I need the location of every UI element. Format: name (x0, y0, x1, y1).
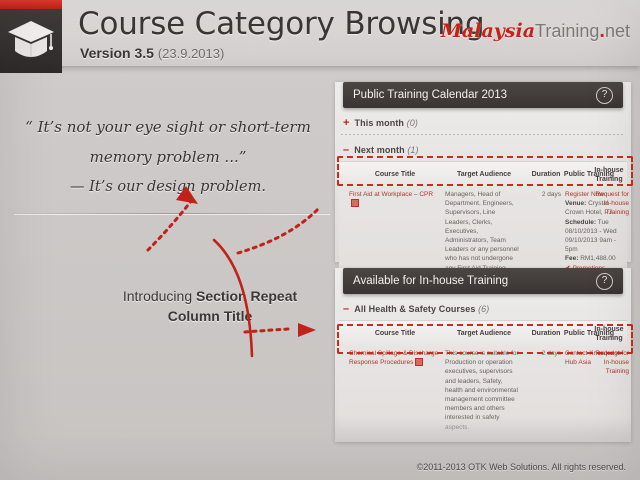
brand-malaysia: Malaysia (441, 20, 535, 42)
slide-header: Course Category Browsing Version 3.5 (23… (0, 0, 640, 66)
graduation-cap-icon (6, 18, 56, 60)
column-header-course-title[interactable]: Course Title (351, 162, 439, 179)
quote-line-2: memory problem ...” (8, 142, 328, 172)
cell-inhouse-request-link[interactable]: Request for In-house Training (595, 349, 629, 377)
footer-copyright: ©2011-2013 OTK Web Solutions. All rights… (417, 462, 626, 472)
annotation-text: Introducing Section Repeat Column Title (110, 286, 310, 326)
expand-plus-icon[interactable]: + (343, 117, 350, 129)
question-mark-icon[interactable]: ? (596, 87, 613, 104)
column-header-inhouse-training[interactable]: In-house Training (591, 321, 627, 343)
panel-bottom-fade (335, 416, 631, 442)
fee-label: Fee: (565, 255, 578, 262)
section-next-month[interactable]: –Next month (1) (343, 144, 631, 156)
version-date: (23.9.2013) (158, 46, 225, 61)
external-link-icon[interactable] (415, 358, 423, 366)
public-training-calendar-panel: Public Training Calendar 2013 ? +This mo… (335, 82, 631, 262)
schedule-label: Schedule: (565, 219, 596, 226)
page-title: Course Category Browsing (78, 6, 484, 42)
column-header-duration[interactable]: Duration (527, 162, 565, 179)
course-title-link[interactable]: Chemical Spillage & Discharge Response P… (349, 350, 438, 366)
brand-training: Training (535, 21, 599, 41)
panel-title-bar: Public Training Calendar 2013 ? (343, 82, 623, 108)
fee-value: RM1,488.00 (580, 255, 615, 262)
brand-logo: MalaysiaTraining.net (441, 20, 630, 43)
table-header-row: Course Title Target Audience Duration Pu… (339, 161, 627, 188)
quote-line-3: — It’s our design problem. (8, 172, 328, 202)
table-row: First Aid at Workplace – CPR Managers, H… (339, 188, 627, 280)
section-count: (0) (407, 118, 418, 128)
cell-inhouse-request-link[interactable]: Request for In-house Training (595, 190, 629, 218)
cell-course-title[interactable]: Chemical Spillage & Discharge Response P… (349, 349, 441, 367)
section-label: All Health & Safety Courses (354, 304, 475, 314)
quote-block: “ It’s not your eye sight or short-term … (8, 112, 328, 202)
section-label: This month (355, 118, 405, 128)
collapse-minus-icon[interactable]: – (343, 303, 349, 315)
brand-net: net (605, 21, 630, 41)
course-title-link[interactable]: First Aid at Workplace – CPR (349, 191, 433, 198)
slide-canvas: Course Category Browsing Version 3.5 (23… (0, 0, 640, 480)
cell-target-audience: Managers, Head of Department, Engineers,… (445, 190, 521, 273)
inhouse-training-panel: Available for In-house Training ? –All H… (335, 268, 631, 442)
quote-divider (14, 213, 330, 214)
section-rule (341, 134, 625, 135)
external-link-icon[interactable] (351, 199, 359, 207)
version-label: Version 3.5 (23.9.2013) (80, 45, 224, 61)
section-all-health-safety[interactable]: –All Health & Safety Courses (6) (343, 303, 631, 315)
panel-title-bar: Available for In-house Training ? (343, 268, 623, 294)
cell-course-title[interactable]: First Aid at Workplace – CPR (349, 190, 441, 208)
logo-block (0, 9, 62, 73)
cell-duration: 2 days (525, 190, 561, 199)
annotation-intro: Introducing (123, 288, 196, 304)
venue-label: Venue: (565, 200, 586, 207)
panel-title: Available for In-house Training (353, 275, 508, 287)
red-accent-bar (0, 0, 62, 9)
column-header-target-audience[interactable]: Target Audience (443, 162, 525, 179)
quote-line-1: “ It’s not your eye sight or short-term (8, 112, 328, 142)
section-this-month[interactable]: +This month (0) (343, 117, 631, 129)
table-header-row: Course Title Target Audience Duration Pu… (339, 320, 627, 347)
section-count: (6) (478, 304, 489, 314)
column-header-course-title[interactable]: Course Title (351, 321, 439, 338)
version-number: Version 3.5 (80, 45, 154, 61)
column-header-duration[interactable]: Duration (527, 321, 565, 338)
collapse-minus-icon[interactable]: – (343, 144, 349, 156)
column-header-inhouse-training[interactable]: In-house Training (591, 162, 627, 184)
section-count: (1) (407, 145, 418, 155)
question-mark-icon[interactable]: ? (596, 273, 613, 290)
section-label: Next month (354, 145, 405, 155)
column-header-target-audience[interactable]: Target Audience (443, 321, 525, 338)
panel-title: Public Training Calendar 2013 (353, 89, 507, 101)
cell-duration: 2 days (525, 349, 561, 358)
